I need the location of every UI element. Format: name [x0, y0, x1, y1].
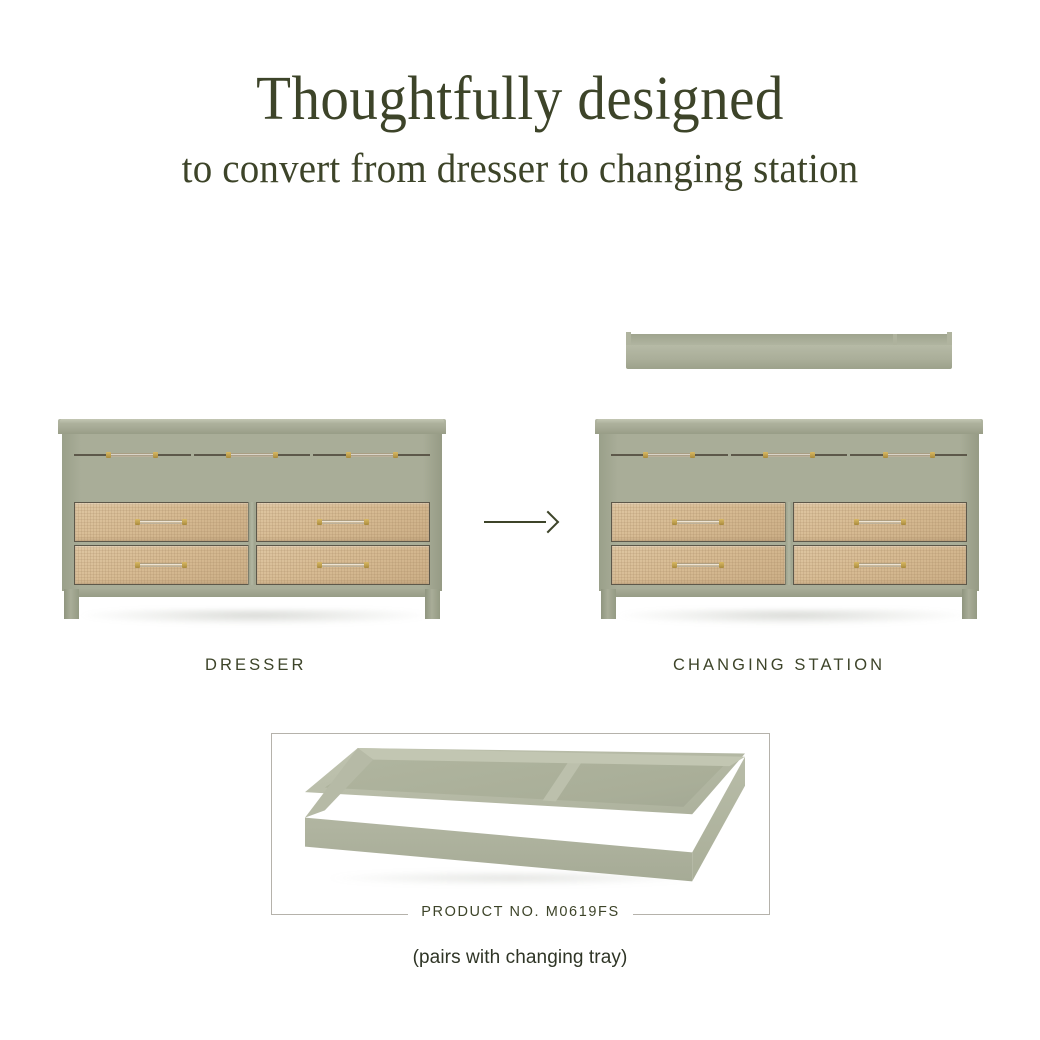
changing-tray-on-top [626, 330, 952, 372]
dresser-top-board [58, 419, 446, 434]
product-number-text: PRODUCT NO. M0619FS [408, 904, 633, 920]
drawer-column [611, 502, 786, 585]
drawer [793, 502, 968, 542]
drawer-pull-icon [317, 562, 369, 568]
dresser-leg [601, 589, 616, 619]
dresser-legs [58, 589, 446, 619]
drawer-column [793, 502, 968, 585]
drawer-column [194, 454, 311, 497]
dresser-body [599, 434, 979, 591]
drawer-column [611, 454, 728, 497]
dresser-leg [962, 589, 977, 619]
drawer-pull-icon [672, 562, 724, 568]
dresser-leg [64, 589, 79, 619]
drawer [313, 454, 430, 456]
dresser-top-board [595, 419, 983, 434]
drawer [74, 454, 191, 456]
drawer [611, 502, 786, 542]
drawer-column [74, 454, 191, 497]
arrow-right-icon [484, 512, 556, 532]
drawer-area [74, 454, 430, 585]
drawer-pull-icon [317, 519, 369, 525]
drawer [731, 454, 848, 456]
dresser-leg [425, 589, 440, 619]
drawer-pull-icon [226, 452, 278, 458]
drawer-pull-icon [763, 452, 815, 458]
dresser-apron [611, 589, 967, 597]
drawer-pull-icon [135, 562, 187, 568]
pairs-note: (pairs with changing tray) [0, 947, 1040, 969]
drawer-pull-icon [672, 519, 724, 525]
center-stile [786, 502, 793, 585]
product-number-label: PRODUCT NO. M0619FS [271, 903, 770, 921]
drawer [611, 454, 728, 456]
drawer-column [731, 454, 848, 497]
dresser-apron [74, 589, 430, 597]
drawer [194, 454, 311, 456]
center-stile [249, 502, 256, 585]
drawer-pull-icon [106, 452, 158, 458]
drawer-pull-icon [346, 452, 398, 458]
drawer-column [313, 454, 430, 497]
dresser-illustration [58, 367, 446, 619]
dresser-body [62, 434, 442, 591]
drawer-pull-icon [854, 519, 906, 525]
dresser-carcass [58, 419, 446, 619]
drawer [256, 545, 431, 585]
drawer [74, 502, 249, 542]
drawer-row-top [74, 454, 430, 497]
drawer [611, 545, 786, 585]
drawer [793, 545, 968, 585]
tray-front-panel [626, 345, 952, 369]
drawer [850, 454, 967, 456]
changing-station-illustration [595, 330, 983, 619]
drawer [74, 545, 249, 585]
dresser-legs [595, 589, 983, 619]
drawer-pull-icon [854, 562, 906, 568]
drawer-column [256, 502, 431, 585]
drawer-pull-icon [135, 519, 187, 525]
changing-tray-illustration [305, 748, 745, 893]
changing-station-caption: CHANGING STATION [673, 656, 885, 675]
drawer-area [611, 454, 967, 585]
drawer-column [850, 454, 967, 497]
drawer-pull-icon [883, 452, 935, 458]
dresser-carcass [595, 419, 983, 619]
marketing-graphic: Thoughtfully designed to convert from dr… [0, 0, 1040, 1040]
drawer-row-top [611, 454, 967, 497]
dresser-caption: DRESSER [205, 656, 306, 675]
drawer-column [74, 502, 249, 585]
drawer [256, 502, 431, 542]
drawer-pull-icon [643, 452, 695, 458]
